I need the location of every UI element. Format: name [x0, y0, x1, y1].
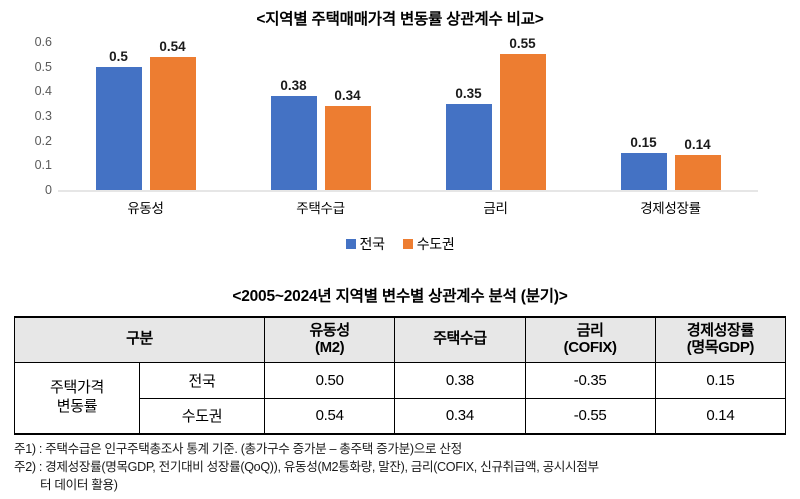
- bar-수도권: [150, 57, 196, 190]
- table-notes: 주1) : 주택수급은 인구주택총조사 통계 기준. (총가구수 증가분 – 총…: [14, 441, 786, 495]
- header-line-1: 주택수급: [397, 331, 522, 348]
- bar-column: 0.38: [271, 42, 317, 190]
- x-axis-label: 유동성: [66, 197, 226, 217]
- header-line-2: (M2): [267, 340, 392, 357]
- table-cell-value: -0.55: [525, 398, 655, 434]
- y-tick-label: 0.3: [0, 109, 52, 123]
- x-axis-label: 경제성장률: [591, 197, 751, 217]
- header-line-2: (COFIX): [528, 340, 653, 357]
- table-cell-value: 0.14: [655, 398, 785, 434]
- bar-column: 0.15: [621, 42, 667, 190]
- legend-label: 전국: [360, 234, 385, 254]
- legend-item-수도권[interactable]: 수도권: [403, 234, 455, 254]
- table-col-header: 유동성(M2): [265, 317, 395, 362]
- bar-group: 0.350.55: [416, 42, 576, 190]
- table-col-header: 주택수급: [395, 317, 525, 362]
- table-cell-value: 0.15: [655, 362, 785, 398]
- table-cell-value: 0.50: [265, 362, 395, 398]
- bar-column: 0.14: [675, 42, 721, 190]
- y-tick-label: 0.1: [0, 158, 52, 172]
- row-group-label-line-1: 주택가격: [17, 379, 137, 398]
- y-tick-label: 0.4: [0, 84, 52, 98]
- note-2-line-2: 터 데이터 활용): [14, 477, 786, 495]
- bar-column: 0.35: [446, 42, 492, 190]
- bar-value-label: 0.54: [138, 39, 208, 54]
- table-title: <2005~2024년 지역별 변수별 상관계수 분석 (분기)>: [0, 284, 800, 306]
- table-col-header: 구분: [15, 317, 265, 362]
- header-line-2: (명목GDP): [658, 340, 783, 357]
- bar-수도권: [325, 106, 371, 190]
- legend-swatch-icon: [403, 239, 413, 249]
- table-cell-value: 0.38: [395, 362, 525, 398]
- bar-value-label: 0.55: [488, 36, 558, 51]
- x-axis-label: 금리: [416, 197, 576, 217]
- bar-column: 0.5: [96, 42, 142, 190]
- legend-label: 수도권: [417, 234, 455, 254]
- bar-value-label: 0.35: [434, 86, 504, 101]
- bar-group: 0.150.14: [591, 42, 751, 190]
- bar-column: 0.55: [500, 42, 546, 190]
- table-header-row: 구분유동성(M2)주택수급금리(COFIX)경제성장률(명목GDP): [15, 317, 786, 362]
- bar-전국: [621, 153, 667, 190]
- bar-수도권: [675, 155, 721, 190]
- table-row: 주택가격변동률전국0.500.38-0.350.15: [15, 362, 786, 398]
- header-line-1: 유동성: [267, 323, 392, 340]
- legend-item-전국[interactable]: 전국: [346, 234, 385, 254]
- table-cell-value: -0.35: [525, 362, 655, 398]
- y-tick-label: 0.5: [0, 60, 52, 74]
- table-col-header: 경제성장률(명목GDP): [655, 317, 785, 362]
- bar-group: 0.50.54: [66, 42, 226, 190]
- table-row-label: 전국: [140, 362, 265, 398]
- correlation-table: 구분유동성(M2)주택수급금리(COFIX)경제성장률(명목GDP) 주택가격변…: [14, 316, 786, 435]
- bar-전국: [446, 104, 492, 190]
- bar-전국: [96, 67, 142, 190]
- bar-전국: [271, 96, 317, 190]
- row-group-label-line-2: 변동률: [17, 398, 137, 417]
- legend-swatch-icon: [346, 239, 356, 249]
- bar-column: 0.54: [150, 42, 196, 190]
- bar-value-label: 0.34: [313, 88, 383, 103]
- table-row-label: 수도권: [140, 398, 265, 434]
- y-axis: 00.10.20.30.40.50.6: [0, 42, 52, 190]
- note-1: 주1) : 주택수급은 인구주택총조사 통계 기준. (총가구수 증가분 – 총…: [14, 441, 786, 459]
- x-axis-label: 주택수급: [241, 197, 401, 217]
- x-axis-labels: 유동성주택수급금리경제성장률: [58, 197, 758, 219]
- chart-legend: 전국수도권: [0, 234, 800, 254]
- y-tick-label: 0.2: [0, 134, 52, 148]
- table-cell-value: 0.54: [265, 398, 395, 434]
- y-tick-label: 0.6: [0, 35, 52, 49]
- bar-column: 0.34: [325, 42, 371, 190]
- table-cell-value: 0.34: [395, 398, 525, 434]
- note-2-line-1: 주2) : 경제성장률(명목GDP, 전기대비 성장률(QoQ)), 유동성(M…: [14, 459, 786, 477]
- y-tick-label: 0: [0, 183, 52, 197]
- bar-group: 0.380.34: [241, 42, 401, 190]
- bar-chart: 00.10.20.30.40.50.6 0.50.540.380.340.350…: [0, 29, 800, 229]
- plot-area: 0.50.540.380.340.350.550.150.14: [58, 42, 758, 190]
- header-line-1: 경제성장률: [658, 323, 783, 340]
- bar-value-label: 0.14: [663, 137, 733, 152]
- table-col-header: 금리(COFIX): [525, 317, 655, 362]
- table-body: 주택가격변동률전국0.500.38-0.350.15수도권0.540.34-0.…: [15, 362, 786, 434]
- header-line-1: 금리: [528, 323, 653, 340]
- bar-수도권: [500, 54, 546, 190]
- chart-title: <지역별 주택매매가격 변동률 상관계수 비교>: [0, 0, 800, 29]
- axis-baseline: [58, 190, 758, 192]
- header-line-1: 구분: [17, 331, 262, 348]
- table-row-group-label: 주택가격변동률: [15, 362, 140, 434]
